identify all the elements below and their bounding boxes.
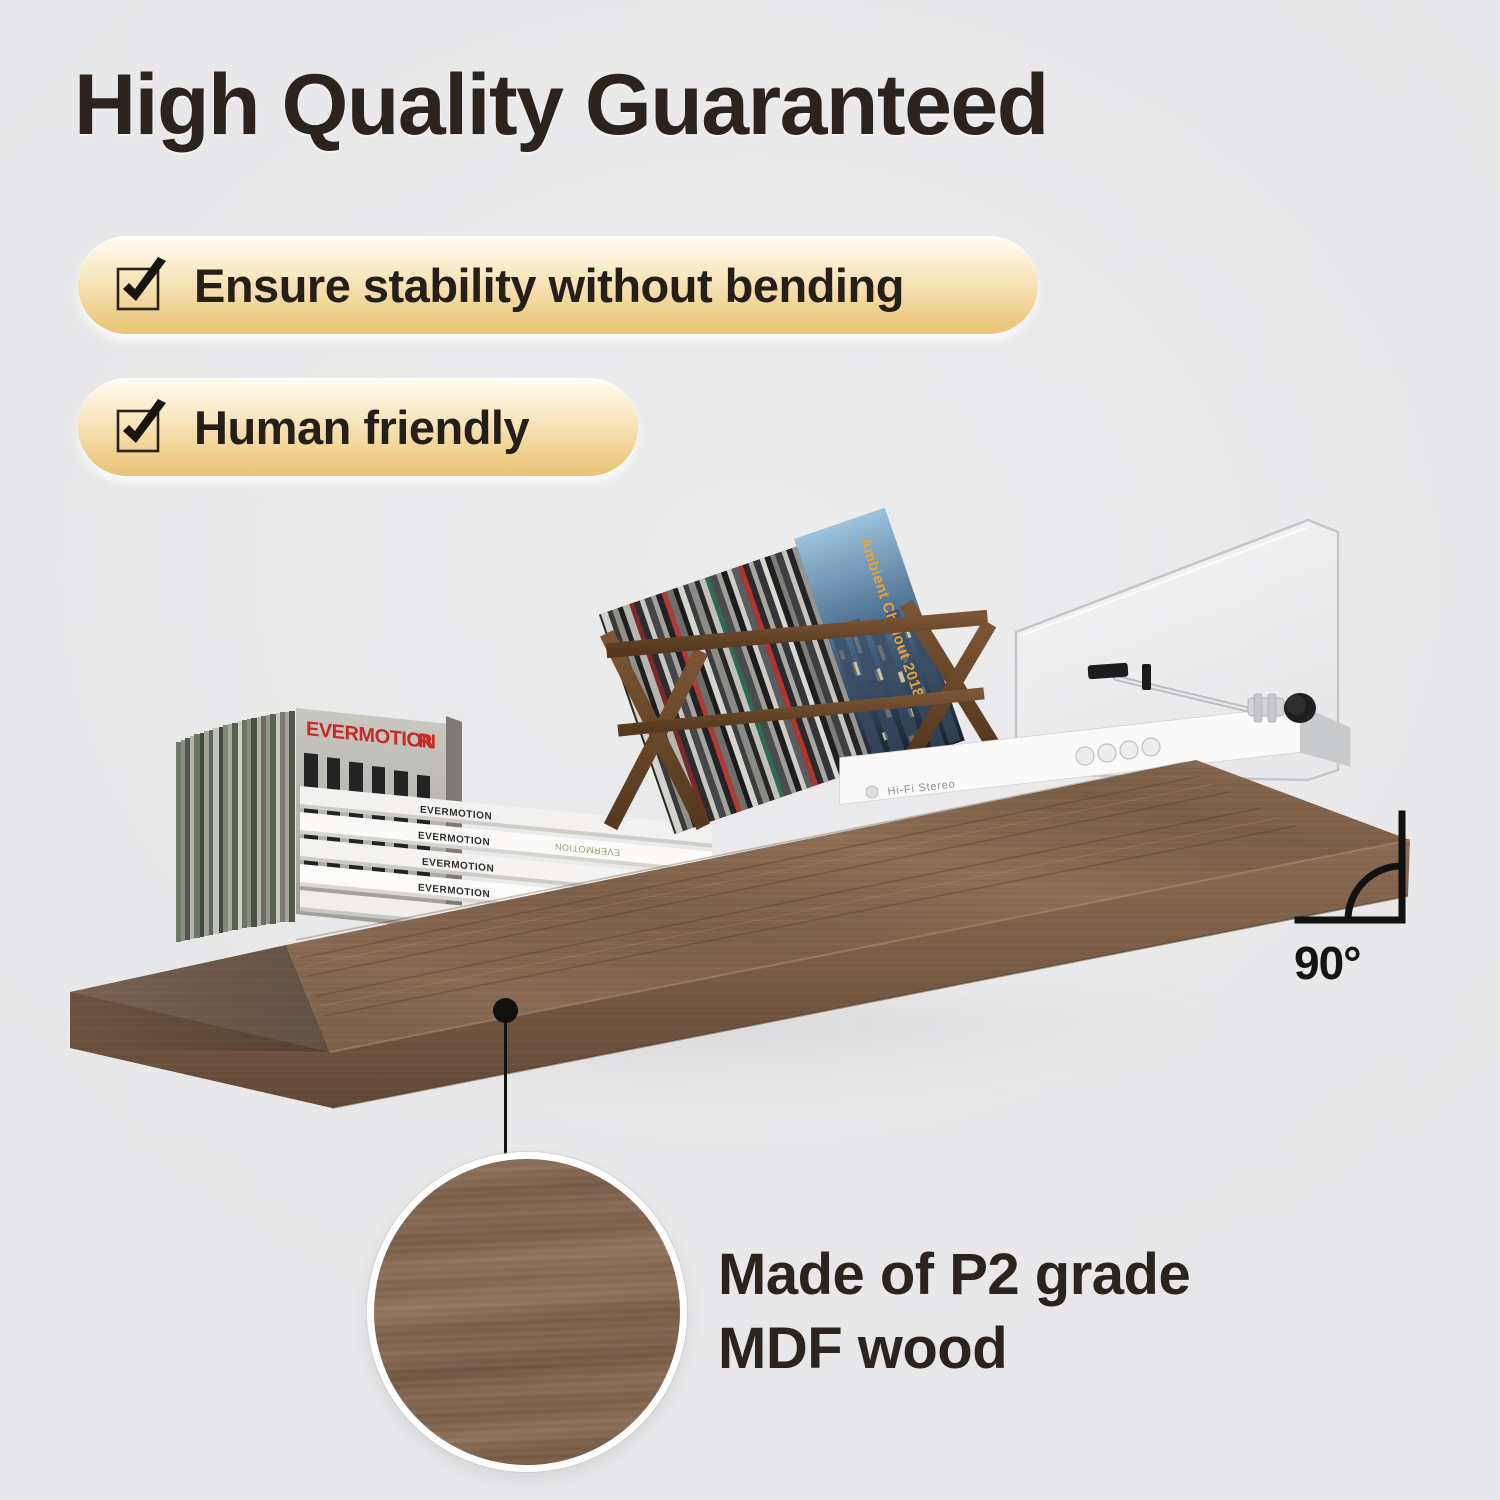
material-callout-text: Made of P2 grade MDF wood [718,1238,1318,1386]
angle-label: 90° [1294,940,1361,986]
material-callout-line2: MDF wood [718,1312,1318,1386]
callout-leader-line [504,1016,507,1156]
material-callout-line1: Made of P2 grade [718,1238,1318,1312]
right-angle-icon [1290,808,1420,938]
product-scene: EVERMOTION R [0,0,1500,1500]
wood-grain-swatch [367,1152,687,1472]
product-marketing-image: High Quality Guaranteed Ensure stability… [0,0,1500,1500]
angle-annotation: 90° [1290,808,1440,1008]
floating-wall-shelf [0,700,1500,1120]
